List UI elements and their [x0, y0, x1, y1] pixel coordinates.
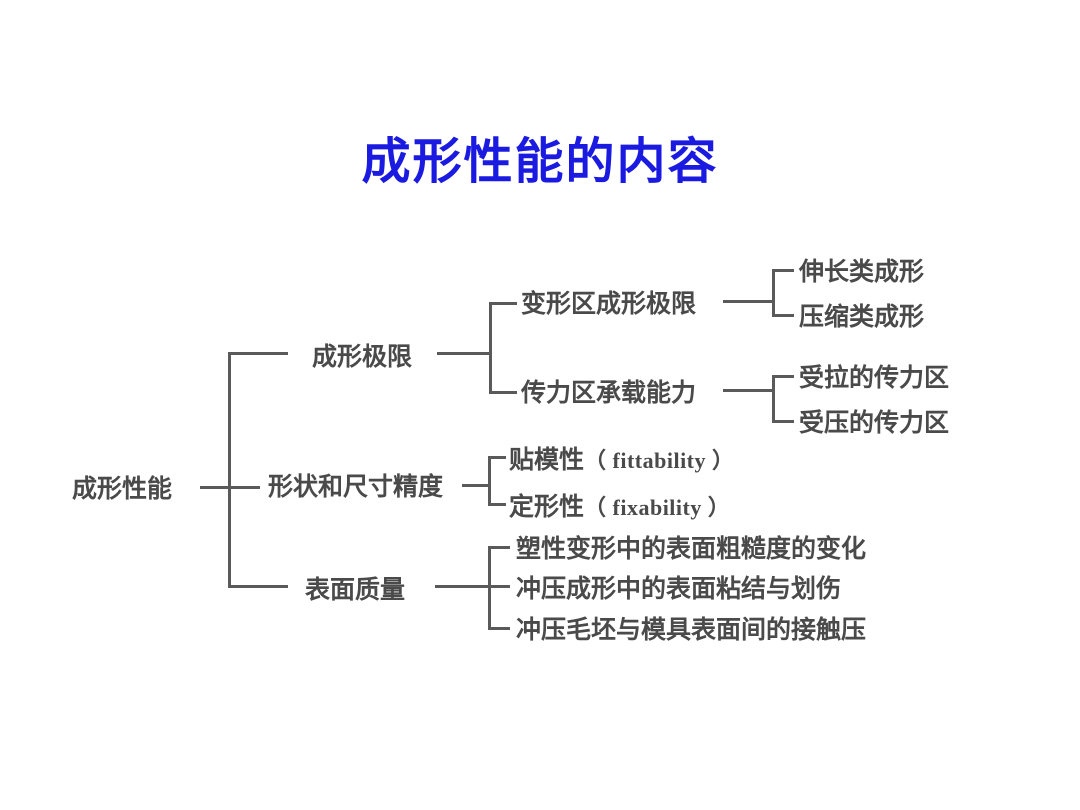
connector-forming-limit-stem — [437, 352, 492, 355]
tree-leaf-compressive-force-transmission-zone: 受压的传力区 — [799, 403, 949, 439]
connector-forming-limit-bracket-vertical — [489, 302, 492, 394]
connector-shape-accuracy-bracket-top-arm — [488, 456, 506, 459]
tree-leaf-fittability: 贴模性（ fittability ） — [509, 440, 735, 476]
connector-main-bracket-vertical — [228, 352, 231, 588]
tree-leaf-surface-roughness-change: 塑性变形中的表面粗糙度的变化 — [516, 529, 866, 565]
forming-performance-tree-diagram: 成形性能 成形极限 变形区成形极限 伸长类成形 压缩类成形 传力区承载能力 受拉… — [0, 0, 1080, 810]
connector-deformation-zone-stem — [723, 300, 775, 303]
connector-surface-quality-bracket-bottom-arm — [488, 627, 510, 630]
tree-node-deformation-zone-forming-limit: 变形区成形极限 — [521, 284, 696, 320]
tree-leaf-fittability-en: （ fittability ） — [584, 448, 735, 473]
tree-leaf-fittability-cn: 贴模性 — [509, 445, 584, 474]
connector-force-transmission-bracket-bottom-arm — [772, 420, 794, 423]
connector-main-bracket-bottom-arm — [228, 585, 288, 588]
tree-leaf-blank-die-contact-pressure: 冲压毛坯与模具表面间的接触压 — [516, 610, 866, 646]
tree-leaf-elongation-type-forming: 伸长类成形 — [799, 252, 924, 288]
tree-node-shape-and-dimensional-accuracy: 形状和尺寸精度 — [268, 467, 443, 503]
connector-surface-quality-bracket-top-arm — [488, 546, 510, 549]
connector-main-bracket-top-arm — [228, 352, 288, 355]
connector-shape-accuracy-bracket-vertical — [488, 456, 491, 506]
connector-forming-limit-bracket-bottom-arm — [489, 391, 517, 394]
tree-leaf-fixability-cn: 定形性 — [509, 492, 584, 521]
tree-node-forming-limit: 成形极限 — [312, 337, 412, 373]
tree-node-force-transmission-zone-capacity: 传力区承载能力 — [521, 373, 696, 409]
connector-force-transmission-bracket-top-arm — [772, 375, 794, 378]
tree-leaf-tensile-force-transmission-zone: 受拉的传力区 — [799, 358, 949, 394]
connector-surface-quality-stem — [435, 585, 490, 588]
tree-leaf-compression-type-forming: 压缩类成形 — [799, 297, 924, 333]
connector-deformation-zone-bracket-top-arm — [772, 269, 794, 272]
tree-leaf-fixability: 定形性（ fixability ） — [509, 487, 730, 523]
connector-shape-accuracy-stem — [462, 484, 490, 487]
tree-node-surface-quality: 表面质量 — [305, 570, 405, 606]
tree-leaf-fixability-en: （ fixability ） — [584, 495, 730, 520]
tree-leaf-surface-adhesion-and-scratches: 冲压成形中的表面粘结与划伤 — [516, 569, 841, 605]
connector-shape-accuracy-bracket-bottom-arm — [488, 503, 506, 506]
slide-canvas: 成形性能的内容 成形性能 成形极限 变形区成形极限 伸长类成形 压缩类成形 传力… — [0, 0, 1080, 810]
connector-surface-quality-bracket-middle-arm — [488, 585, 510, 588]
connector-deformation-zone-bracket-vertical — [772, 269, 775, 317]
connector-deformation-zone-bracket-bottom-arm — [772, 314, 794, 317]
connector-forming-limit-bracket-top-arm — [489, 302, 517, 305]
connector-force-transmission-stem — [723, 389, 775, 392]
connector-force-transmission-bracket-vertical — [772, 375, 775, 423]
tree-node-root: 成形性能 — [72, 469, 172, 505]
connector-surface-quality-bracket-vertical — [488, 546, 491, 630]
